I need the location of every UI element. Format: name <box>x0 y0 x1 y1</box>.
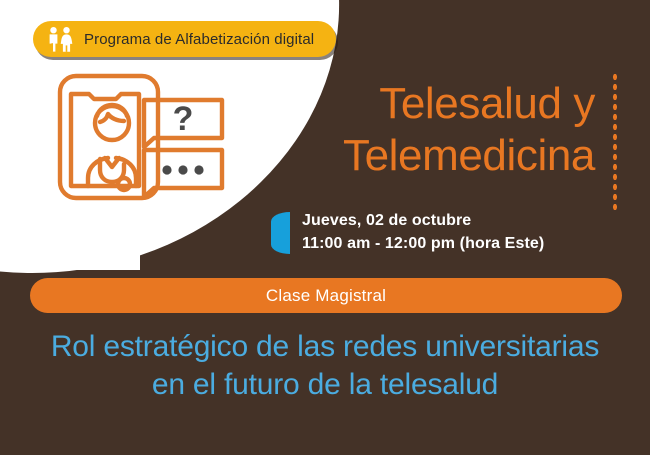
headline-line-2: Telemedicina <box>175 130 595 182</box>
half-circle-marker-icon <box>271 212 290 254</box>
session-type-label: Clase Magistral <box>266 286 386 306</box>
program-badge-label: Programa de Alfabetización digital <box>84 31 314 48</box>
headline-line-1: Telesalud y <box>175 78 595 130</box>
datetime-text: Jueves, 02 de octubre 11:00 am - 12:00 p… <box>302 210 544 255</box>
dotted-divider-icon <box>612 72 618 212</box>
session-type-badge: Clase Magistral <box>30 278 622 313</box>
main-title-line-1: Rol estratégico de las redes <box>51 330 417 363</box>
two-people-icon <box>45 26 75 52</box>
main-title-line-3: telesalud <box>380 368 498 401</box>
page-title: Rol estratégico de las redes universitar… <box>40 328 610 404</box>
program-badge: Programa de Alfabetización digital <box>33 21 336 57</box>
event-date: Jueves, 02 de octubre <box>302 210 544 233</box>
datetime-block: Jueves, 02 de octubre 11:00 am - 12:00 p… <box>271 210 544 255</box>
event-flyer: Programa de Alfabetización digital <box>0 0 650 455</box>
event-time: 11:00 am - 12:00 pm (hora Este) <box>302 233 544 256</box>
headline: Telesalud y Telemedicina <box>175 78 595 182</box>
